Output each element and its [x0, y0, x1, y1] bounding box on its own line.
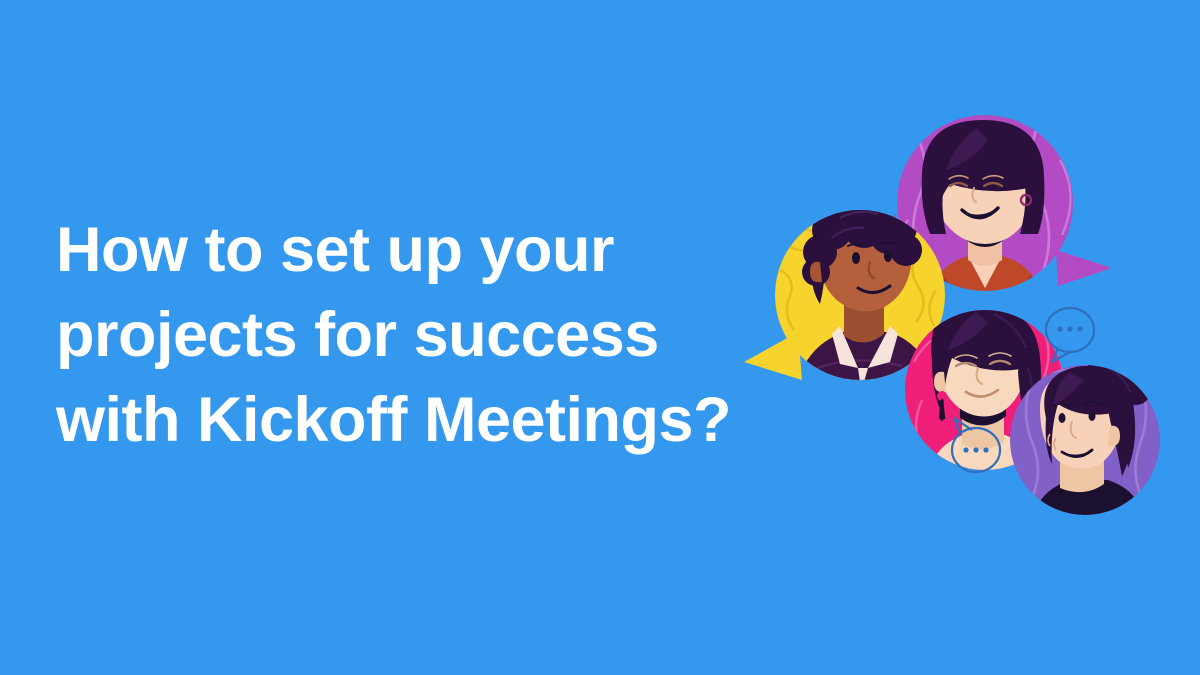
page-title: How to set up your projects for success …	[56, 208, 816, 463]
illustration-team-conversation	[740, 100, 1200, 520]
blog-banner: How to set up your projects for success …	[0, 0, 1200, 675]
bubble-tail-magenta	[1056, 250, 1112, 286]
